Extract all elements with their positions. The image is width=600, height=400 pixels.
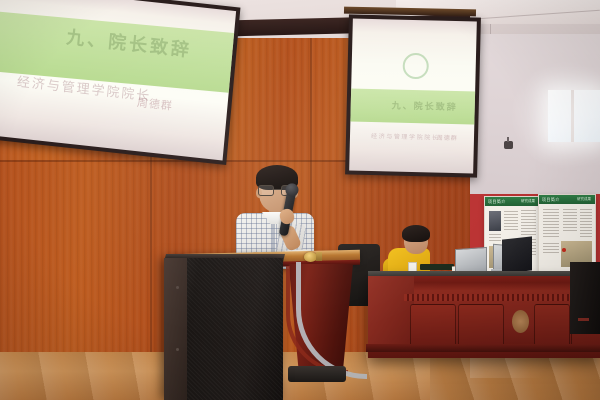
- poster-header-title: 项目简介: [488, 199, 506, 205]
- poster-header-bar: 项目简介 研究成果: [539, 195, 595, 204]
- window-mullion: [571, 90, 574, 142]
- right-screen-surface: 九、院长致辞 经济与管理学院院长 周德群: [349, 19, 477, 174]
- right-screen-speaker-name: 周德群: [437, 133, 458, 143]
- institution-seal-icon: [512, 310, 529, 333]
- left-screen-speaker-name: 周德群: [136, 94, 173, 114]
- poster-text-column: [521, 210, 536, 236]
- glasses-bridge: [272, 189, 281, 190]
- speaker-screw: [176, 286, 179, 289]
- window: [548, 90, 600, 142]
- desk-baseboard: [366, 344, 600, 352]
- poster-header-corner: 研究成果: [521, 199, 535, 204]
- left-screen-surface: 九、院长致辞 经济与管理学院院长 周德群: [0, 0, 236, 161]
- poster-text-column: [563, 209, 577, 231]
- seated-person-hair: [402, 225, 430, 242]
- poster-text-column: [543, 243, 559, 255]
- speaker-badge: [578, 318, 589, 321]
- speaker-screw: [176, 348, 179, 351]
- poster-text-column: [543, 209, 559, 239]
- lectern-brass-trim: [316, 252, 322, 261]
- security-camera-icon: [504, 141, 513, 149]
- poster-header-corner: 研究成果: [577, 197, 591, 202]
- loudspeaker-right: [570, 262, 600, 334]
- desk-left-face: [368, 276, 414, 346]
- right-screen-title: 九、院长致辞: [392, 99, 458, 114]
- poster-header-title: 项目简介: [542, 197, 560, 203]
- right-projection-screen: 九、院长致辞 经济与管理学院院长 周德群: [345, 14, 481, 177]
- institution-logo-icon: [402, 53, 429, 80]
- lectern-base: [288, 366, 346, 382]
- left-projection-screen: 九、院长致辞 经济与管理学院院长 周德群: [0, 0, 240, 165]
- poster-text-column: [504, 211, 518, 231]
- poster-header-bar: 项目简介 研究成果: [485, 197, 539, 206]
- poster-text-column: [489, 234, 501, 243]
- desk-device: [420, 264, 454, 270]
- glasses-lens: [258, 185, 274, 196]
- loudspeaker-side-face: [164, 258, 187, 400]
- right-screen-subtitle: 经济与管理学院院长: [371, 131, 440, 142]
- desk-panel: [410, 304, 456, 348]
- desk-panel: [458, 304, 504, 348]
- photo-scene: 九、院长致辞 经济与管理学院院长 周德群 九、院长致辞 经济与管理学院院长 周德…: [0, 0, 600, 400]
- monitor-dark: [502, 236, 532, 273]
- poster-portrait-photo: [489, 211, 501, 231]
- desk-panel: [534, 304, 570, 348]
- poster-text-column: [580, 209, 592, 237]
- cable-connector: [562, 248, 566, 252]
